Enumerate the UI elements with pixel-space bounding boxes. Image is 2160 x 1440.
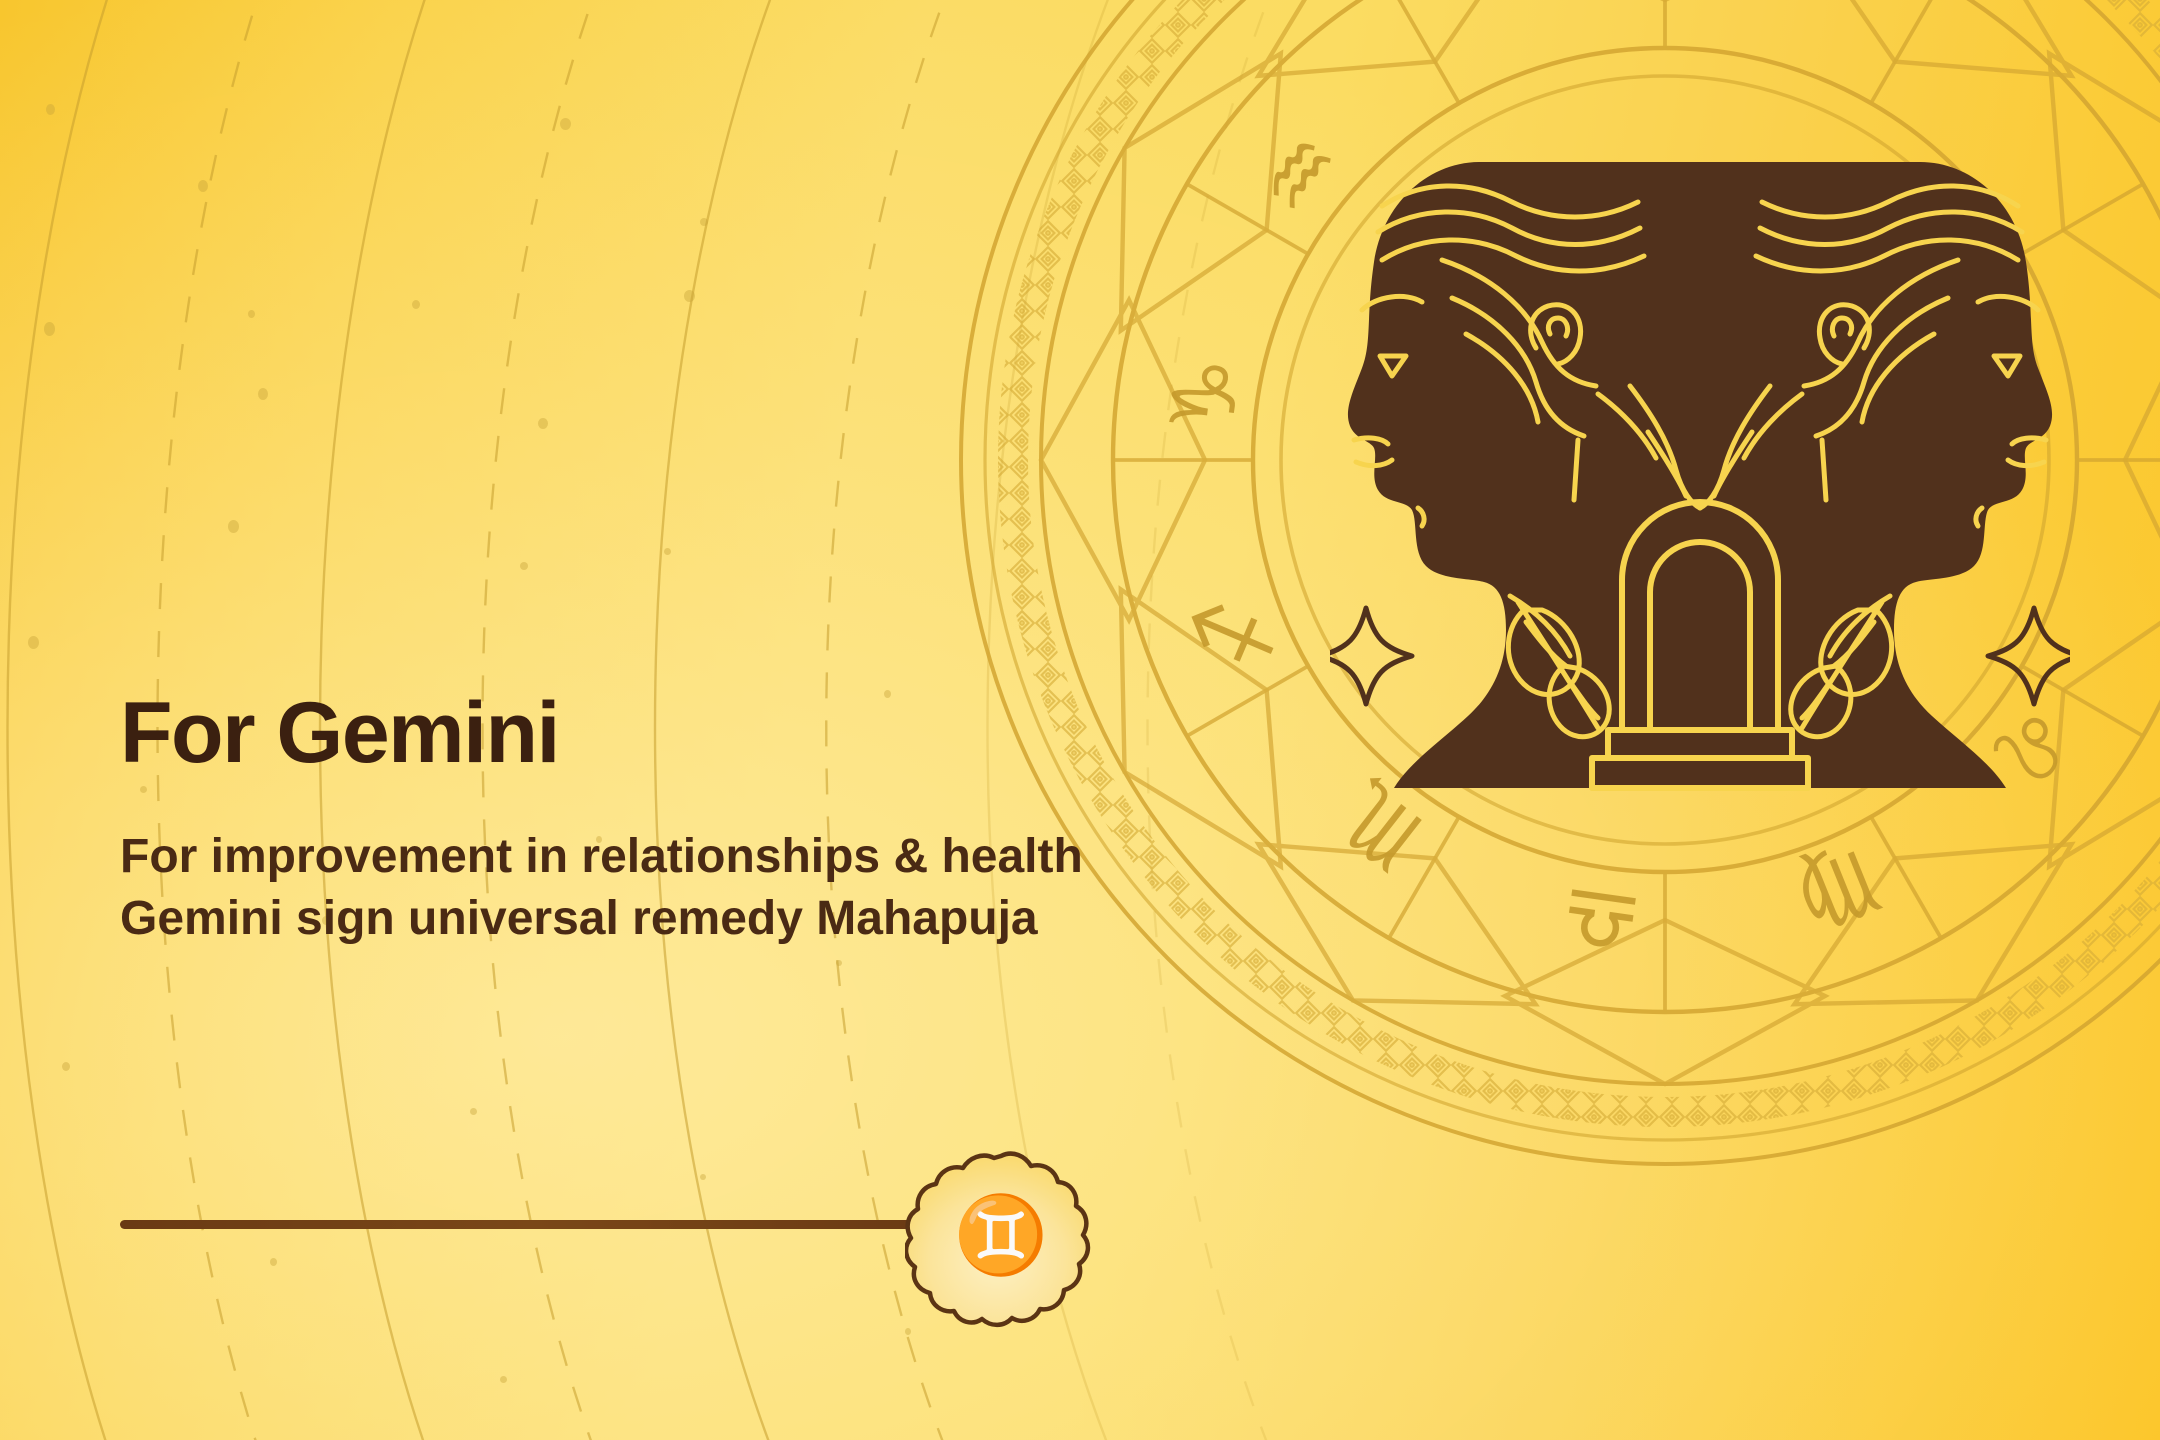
dot	[520, 562, 528, 570]
dot	[700, 1174, 706, 1180]
zodiac-glyph-sagittarius: ♐	[1172, 578, 1297, 690]
gemini-twins-illustration	[1330, 110, 2070, 800]
gemini-seal-badge: ♊	[905, 1142, 1097, 1334]
dot	[46, 104, 55, 115]
dot	[538, 418, 548, 429]
banner-subtitle: For improvement in relationships & healt…	[120, 826, 1210, 951]
dot	[62, 1062, 70, 1071]
dot	[560, 118, 571, 130]
dot	[228, 520, 239, 533]
dot	[500, 1376, 507, 1383]
dot	[700, 218, 708, 226]
zodiac-glyph-capricorn: ♑	[1149, 349, 1262, 441]
divider-rule	[120, 1220, 945, 1229]
dot	[248, 310, 255, 318]
dot	[836, 960, 842, 966]
sparkle-left	[1330, 608, 1412, 704]
dot	[258, 388, 268, 400]
dot	[412, 300, 420, 309]
banner-copy: For Gemini For improvement in relationsh…	[120, 690, 1250, 951]
dot	[28, 636, 39, 649]
dot	[684, 290, 695, 302]
zodiac-glyph-libra: ♎	[1554, 863, 1646, 976]
dot	[270, 1258, 277, 1266]
dot	[198, 180, 208, 192]
zodiac-glyph-virgo: ♍	[1783, 828, 1895, 953]
gemini-zodiac-glyph: ♊	[905, 1142, 1097, 1334]
sparkle-right	[1988, 608, 2070, 704]
dot	[664, 548, 671, 555]
page-title: For Gemini	[120, 690, 1250, 776]
gemini-promo-banner: ♒ ♑ ♐ ♏ ♎ ♍ ♌	[0, 0, 2160, 1440]
dot	[44, 322, 55, 336]
dot	[470, 1108, 477, 1115]
